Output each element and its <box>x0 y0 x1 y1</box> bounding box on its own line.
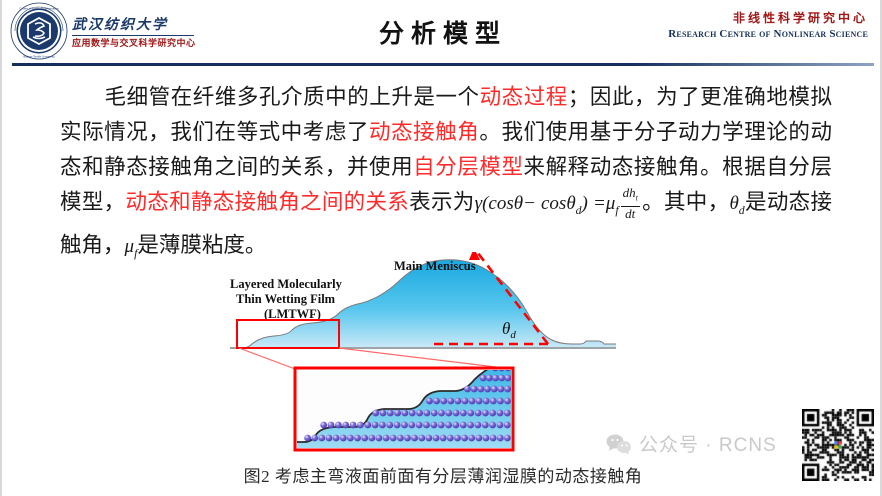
callout-line-right <box>339 348 512 369</box>
eq-mu-sub: f <box>615 204 618 217</box>
wechat-icon <box>606 433 632 455</box>
eq-minus: − cos <box>523 193 566 214</box>
watermark-text: 公众号 · RCNS <box>639 430 777 457</box>
body-paragraph: 毛细管在纤维多孔介质中的上升是一个动态过程；因此，为了更准确地模拟实际情况，我们… <box>60 80 832 271</box>
eq-fraction-numerator: dht <box>621 186 640 207</box>
svg-text:Centre of Applied Mathematics: Centre of Applied Mathematics <box>19 7 59 11</box>
research-centre-branding: 非线性科学研究中心 Research Centre of Nonlinear S… <box>668 9 868 41</box>
university-seal-icon: Centre of Applied Mathematics Wuhan Text… <box>10 2 68 60</box>
lmtwf-label-line3: (LMTWF) <box>264 307 321 321</box>
highlight-dynamic-process: 动态过程 <box>480 85 568 109</box>
highlight-dynamic-contact-angle: 动态接触角 <box>369 120 479 144</box>
eq-fraction: dhtdt <box>621 186 640 221</box>
eq-gamma: γ <box>475 193 483 214</box>
symbol-theta-d-base: θ <box>729 193 738 214</box>
eq-frac-num-sub: t <box>636 194 638 203</box>
qr-code-icon <box>802 409 874 481</box>
university-name-cn: 武汉纺织大学 <box>72 17 196 34</box>
symbol-mu-f-base: μ <box>125 236 135 257</box>
main-meniscus-label: Main Meniscus <box>394 259 476 273</box>
eq-frac-num-text: dh <box>623 185 636 200</box>
svg-text:Wuhan Textile University: Wuhan Textile University <box>23 54 55 58</box>
symbol-mu-f: μf <box>125 236 138 257</box>
wechat-watermark: 公众号 · RCNS <box>606 430 777 457</box>
callout-line-left <box>239 348 295 369</box>
eq-open: (cos <box>482 193 514 214</box>
header-divider <box>12 63 874 66</box>
eq-mu: μ <box>606 193 616 214</box>
figure-caption: 图2 考虑主弯液面前面有分层薄润湿膜的动态接触角 <box>2 462 882 487</box>
university-subtitle-cn: 应用数学与交叉科学研究中心 <box>72 37 196 49</box>
highlight-relation: 动态和静态接触角之间的关系 <box>125 190 409 214</box>
figure-wetting-film: θd Layered Molecularly Thin Wetting Film… <box>212 252 632 477</box>
university-name-divider <box>72 35 194 36</box>
eq-theta-d: θ <box>566 193 575 214</box>
institution-branding: Centre of Applied Mathematics Wuhan Text… <box>10 2 196 60</box>
eq-theta: θ <box>514 193 523 214</box>
centre-name-en: Research Centre of Nonlinear Science <box>668 27 868 41</box>
university-name-block: 武汉纺织大学 应用数学与交叉科学研究中心 <box>72 13 196 49</box>
text-segment-5: 表示为 <box>409 190 474 214</box>
slide-header: Centre of Applied Mathematics Wuhan Text… <box>2 0 882 66</box>
symbol-theta-d: θd <box>729 193 744 214</box>
figure-svg: θd Layered Molecularly Thin Wetting Film… <box>212 252 632 477</box>
governing-equation: γ(cosθ− cosθd) =μfdhtdt <box>475 193 642 214</box>
lmtwf-label-line1: Layered Molecularly <box>230 277 343 291</box>
highlight-self-layering-model: 自分层模型 <box>413 155 523 179</box>
lmtwf-label-line2: Thin Wetting Film <box>236 292 336 306</box>
magnified-inset <box>295 362 513 450</box>
text-segment-6: 。其中， <box>642 190 730 214</box>
slide-canvas: Centre of Applied Mathematics Wuhan Text… <box>0 0 882 496</box>
centre-name-cn: 非线性科学研究中心 <box>668 9 868 27</box>
eq-fraction-denominator: dt <box>621 207 640 221</box>
text-segment-1: 毛细管在纤维多孔介质中的上升是一个 <box>104 85 480 109</box>
eq-close: ) = <box>582 193 606 214</box>
